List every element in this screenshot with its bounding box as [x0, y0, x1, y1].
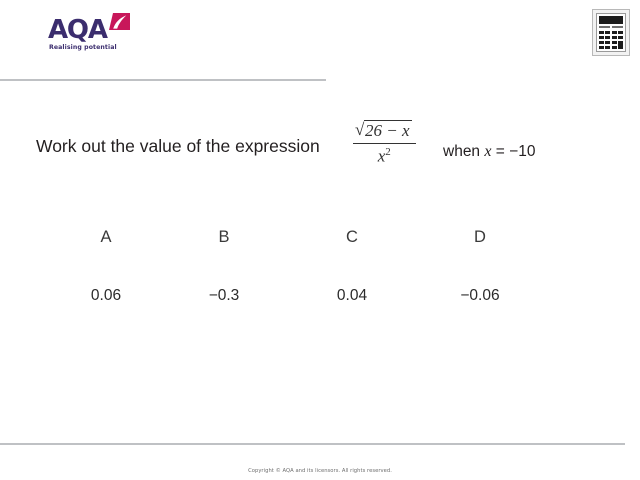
- aqa-tagline: Realising potential: [49, 44, 117, 51]
- slide-header: AQA Realising potential: [0, 0, 640, 72]
- condition-prefix: when: [443, 143, 484, 160]
- slide-footer: Copyright © AQA and its licensors. All r…: [0, 459, 640, 477]
- condition-value: = −10: [491, 143, 535, 160]
- aqa-wordmark: AQA: [48, 17, 107, 43]
- question-condition: when x = −10: [443, 143, 535, 161]
- footer-divider: [0, 443, 625, 445]
- calculator-screen: [599, 16, 623, 24]
- option-label-row: A B C D: [0, 228, 640, 247]
- aqa-logo: AQA Realising potential: [48, 13, 140, 59]
- calculator-keypad: [599, 31, 623, 50]
- square-root-icon: √ 26 − x: [355, 120, 412, 139]
- calculator-subdisplay: [599, 26, 623, 29]
- header-divider: [0, 79, 326, 81]
- fraction-numerator: √ 26 − x: [353, 120, 416, 141]
- question-block: Work out the value of the expression √ 2…: [0, 118, 640, 180]
- option-label-c[interactable]: C: [288, 228, 416, 247]
- math-expression-fraction: √ 26 − x x2: [353, 120, 416, 165]
- fraction-bar: [353, 143, 416, 144]
- option-label-a[interactable]: A: [52, 228, 160, 247]
- fraction-denominator: x2: [353, 147, 416, 165]
- option-value-row: 0.06 −0.3 0.04 −0.06: [0, 287, 640, 305]
- calculator-body: [596, 13, 626, 52]
- option-value-b[interactable]: −0.3: [160, 287, 288, 305]
- option-label-b[interactable]: B: [160, 228, 288, 247]
- radicand-expression: 26 − x: [364, 120, 412, 139]
- answer-options: A B C D 0.06 −0.3 0.04 −0.06: [0, 228, 640, 305]
- option-label-d[interactable]: D: [416, 228, 544, 247]
- option-value-a[interactable]: 0.06: [52, 287, 160, 305]
- aqa-swoosh-mark-icon: [109, 13, 130, 34]
- slide-canvas: AQA Realising potential: [0, 0, 640, 480]
- denominator-exponent: 2: [385, 146, 391, 158]
- copyright-text: Copyright © AQA and its licensors. All r…: [248, 468, 392, 474]
- calculator-icon: [592, 9, 630, 56]
- question-lead-text: Work out the value of the expression: [36, 136, 320, 157]
- option-value-d[interactable]: −0.06: [416, 287, 544, 305]
- option-value-c[interactable]: 0.04: [288, 287, 416, 305]
